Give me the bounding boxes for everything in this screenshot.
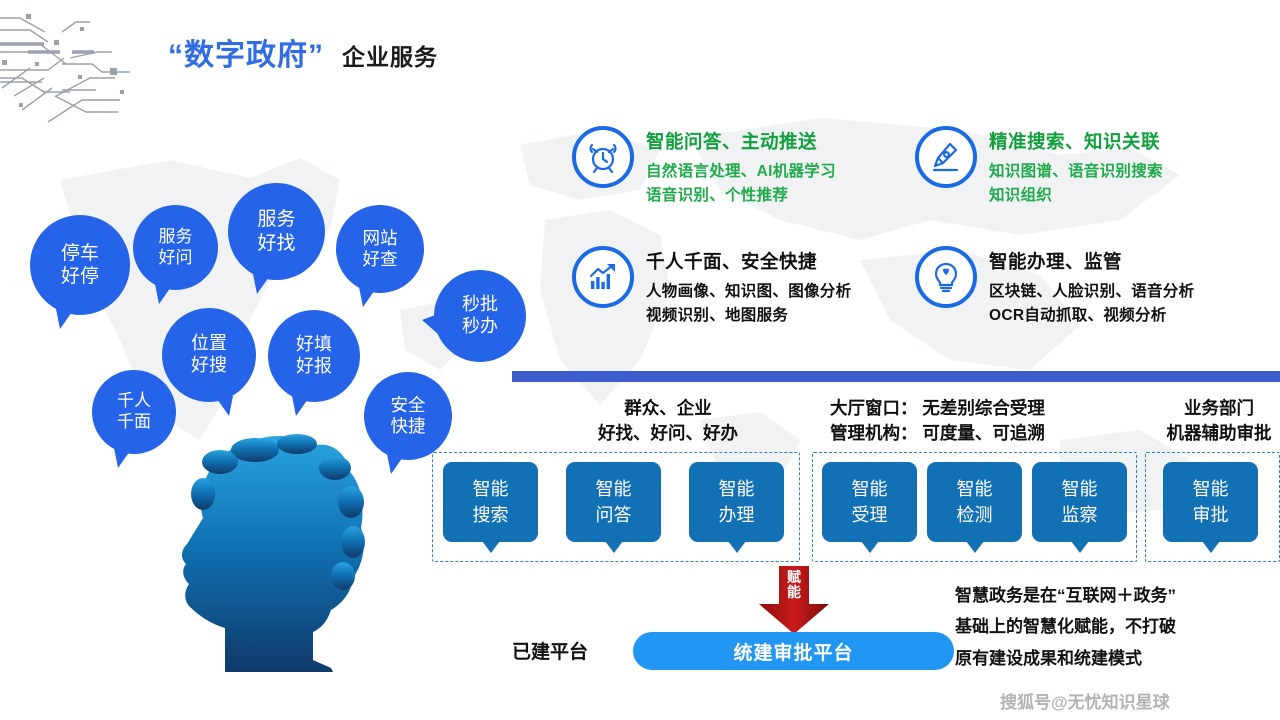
bubble-location: 位置 好搜 xyxy=(162,308,256,402)
feature-line: 视频识别、地图服务 xyxy=(646,304,851,328)
pill-label: 统建审批平台 xyxy=(733,638,853,665)
capbox-line: 办理 xyxy=(719,502,755,528)
bubble-line: 千人 xyxy=(117,391,151,412)
bubble-line: 好停 xyxy=(61,265,99,288)
summary-note: 智慧政务是在“互联网＋政务” 基础上的智慧化赋能，不打破 原有建设成果和统建模式 xyxy=(955,580,1176,674)
column-header-line: 好找、好问、好办 xyxy=(538,421,798,446)
column-header-line: 管理机构： 可度量、可追溯 xyxy=(830,421,1045,446)
summary-note-line: 原有建设成果和统建模式 xyxy=(955,643,1176,674)
feature-line: 语音识别、个性推荐 xyxy=(646,184,836,208)
feature-line: 知识组织 xyxy=(989,184,1163,208)
feature-precise-search: 精准搜索、知识关联 知识图谱、语音识别搜索 知识组织 xyxy=(915,126,1163,208)
bubble-instant-approval: 秒批 秒办 xyxy=(434,270,526,362)
capbox-line: 智能 xyxy=(596,476,632,502)
slide-canvas: “数字政府” 企业服务 停车 好停 服务 好问 服务 好找 网站 好查 秒批 秒… xyxy=(0,0,1280,720)
unified-approval-platform-button[interactable]: 统建审批平台 xyxy=(633,632,954,670)
bubble-line: 秒批 xyxy=(462,294,498,316)
capbox-line: 问答 xyxy=(596,502,632,528)
bubble-line: 好搜 xyxy=(191,355,227,377)
column-header-line: 大厅窗口： 无差别综合受理 xyxy=(830,396,1045,421)
column-header-hall: 大厅窗口： 无差别综合受理 管理机构： 可度量、可追溯 xyxy=(830,396,1045,447)
bubble-line: 安全 xyxy=(391,395,426,416)
column-header-public: 群众、企业 好找、好问、好办 xyxy=(538,396,798,447)
capbox-smart-approve[interactable]: 智能 审批 xyxy=(1163,462,1258,542)
column-header-line: 业务部门 xyxy=(1144,396,1280,421)
section-separator-bar xyxy=(512,371,1280,382)
column-header-line: 群众、企业 xyxy=(538,396,798,421)
feature-heading: 千人千面、安全快捷 xyxy=(646,248,851,274)
capbox-line: 智能 xyxy=(719,476,755,502)
feature-line: 自然语言处理、AI机器学习 xyxy=(646,160,836,184)
capbox-smart-inspect[interactable]: 智能 监察 xyxy=(1032,462,1127,542)
feature-line: OCR自动抓取、视频分析 xyxy=(989,304,1194,328)
bubble-line: 好找 xyxy=(257,232,295,255)
bubble-website: 网站 好查 xyxy=(336,205,424,293)
capbox-line: 监察 xyxy=(1062,502,1098,528)
circuit-decoration xyxy=(0,0,170,150)
arrow-label-line: 能 xyxy=(781,585,807,600)
capbox-smart-qa[interactable]: 智能 问答 xyxy=(566,462,661,542)
feature-heading: 智能办理、监管 xyxy=(989,248,1194,274)
capbox-line: 智能 xyxy=(957,476,993,502)
summary-note-line: 智慧政务是在“互联网＋政务” xyxy=(955,580,1176,611)
bubble-fill-report: 好填 好报 xyxy=(268,310,360,402)
capbox-line: 审批 xyxy=(1193,502,1229,528)
feature-heading: 智能问答、主动推送 xyxy=(646,128,836,154)
bubble-line: 服务 xyxy=(257,208,295,231)
bubble-line: 服务 xyxy=(159,227,193,248)
bubble-line: 好问 xyxy=(159,248,193,269)
bubble-line: 好查 xyxy=(363,249,398,270)
bubble-line: 网站 xyxy=(363,228,398,249)
column-header-dept: 业务部门 机器辅助审批 xyxy=(1144,396,1280,447)
feature-heading: 精准搜索、知识关联 xyxy=(989,128,1163,154)
feature-smart-qa: 智能问答、主动推送 自然语言处理、AI机器学习 语音识别、个性推荐 xyxy=(572,126,836,208)
capbox-smart-search[interactable]: 智能 搜索 xyxy=(443,462,538,542)
bubble-line: 好填 xyxy=(296,334,332,356)
title-highlight: “数字政府” xyxy=(168,30,324,74)
bubble-service-question: 服务 好问 xyxy=(133,205,218,290)
bubble-service-find: 服务 好找 xyxy=(228,183,325,280)
alarm-clock-icon xyxy=(572,126,634,188)
existing-platform-label: 已建平台 xyxy=(512,637,588,664)
capbox-line: 智能 xyxy=(473,476,509,502)
bubble-line: 秒办 xyxy=(462,316,498,338)
feature-line: 人物画像、知识图、图像分析 xyxy=(646,280,851,304)
enablement-arrow-label: 赋 能 xyxy=(781,570,807,601)
title-subtitle: 企业服务 xyxy=(342,38,438,72)
feature-line: 区块链、人脸识别、语音分析 xyxy=(989,280,1194,304)
pen-nib-icon xyxy=(915,126,977,188)
feature-personalized: 千人千面、安全快捷 人物画像、知识图、图像分析 视频识别、地图服务 xyxy=(572,246,851,328)
page-title: “数字政府” 企业服务 xyxy=(168,30,438,74)
capbox-line: 搜索 xyxy=(473,502,509,528)
bubble-line: 停车 xyxy=(61,242,99,265)
capbox-smart-accept[interactable]: 智能 受理 xyxy=(822,462,917,542)
column-header-line: 机器辅助审批 xyxy=(1144,421,1280,446)
bubble-line: 位置 xyxy=(191,333,227,355)
capbox-line: 受理 xyxy=(852,502,888,528)
bubble-line: 千面 xyxy=(117,412,151,433)
head-silhouette xyxy=(145,432,415,720)
bubble-line: 好报 xyxy=(296,356,332,378)
capbox-line: 智能 xyxy=(1062,476,1098,502)
capbox-line: 智能 xyxy=(1193,476,1229,502)
capbox-smart-handle[interactable]: 智能 办理 xyxy=(689,462,784,542)
capbox-smart-detect[interactable]: 智能 检测 xyxy=(927,462,1022,542)
capbox-line: 检测 xyxy=(957,502,993,528)
arrow-label-line: 赋 xyxy=(781,570,807,585)
capbox-line: 智能 xyxy=(852,476,888,502)
feature-line: 知识图谱、语音识别搜索 xyxy=(989,160,1163,184)
bubble-parking: 停车 好停 xyxy=(30,215,130,315)
watermark: 搜狐号@无忧知识星球 xyxy=(1000,688,1170,713)
growth-chart-icon xyxy=(572,246,634,308)
feature-smart-handling: 智能办理、监管 区块链、人脸识别、语音分析 OCR自动抓取、视频分析 xyxy=(915,246,1194,328)
lightbulb-icon xyxy=(915,246,977,308)
summary-note-line: 基础上的智慧化赋能，不打破 xyxy=(955,611,1176,642)
